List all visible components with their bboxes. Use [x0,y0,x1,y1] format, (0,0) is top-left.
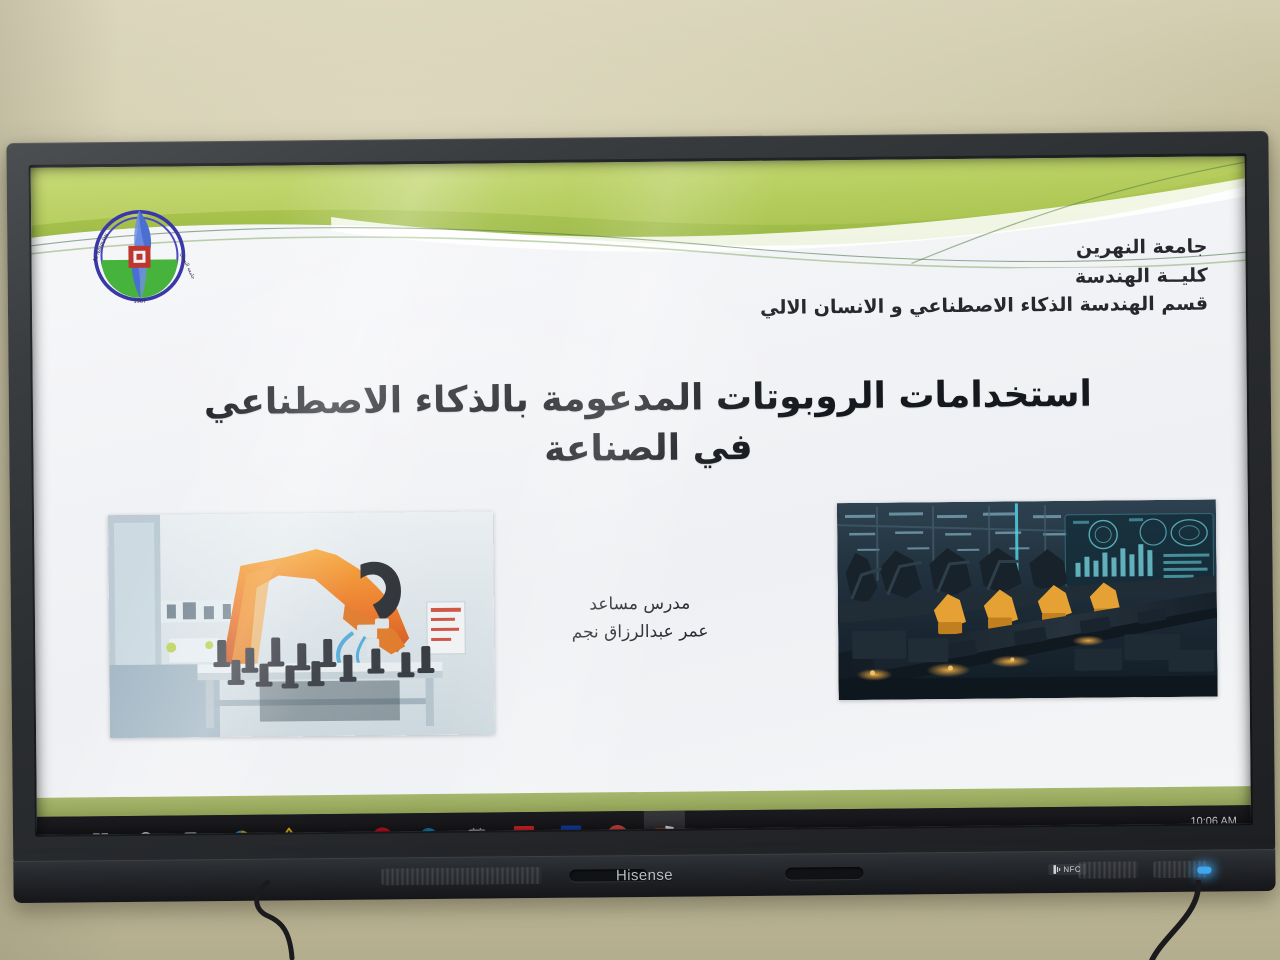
display-screen[interactable]: AL NAHRAIN جامعة النهرين 1987 جامعة النه… [31,156,1251,835]
nfc-icon [1053,865,1060,874]
app-yellow-button[interactable] [265,814,312,835]
search-button[interactable] [124,816,171,835]
al-nahrain-university-logo: AL NAHRAIN جامعة النهرين 1987 [84,201,195,307]
slide-institution-header: جامعة النهرين كليــة الهندسة قسم الهندسة… [607,233,1208,324]
speaker-grille-right [1078,861,1138,879]
ai-smart-factory-photo [837,499,1218,700]
cortana-button[interactable] [218,815,265,835]
industrial-robot-arm-photo [108,511,495,738]
presenter-role: مدرس مساعد [490,589,790,620]
room-scene: AL NAHRAIN جامعة النهرين 1987 جامعة النه… [0,0,1280,960]
slide-title: استخدامات الروبوتات المدعومة بالذكاء الا… [183,369,1114,479]
start-button[interactable] [77,816,124,835]
presenter-block: مدرس مساعد عمر عبدالرزاق نجم [490,589,791,648]
header-line-department: قسم الهندسة الذكاء الاصطناعي و الانسان ا… [608,290,1208,324]
presenter-name: عمر عبدالرزاق نجم [490,617,790,648]
nfc-label: NFC [1063,865,1081,874]
interactive-display: AL NAHRAIN جامعة النهرين 1987 جامعة النه… [6,131,1275,903]
svg-text:1987: 1987 [134,299,147,305]
port-slot-right[interactable] [785,867,863,880]
nfc-badge: NFC [1048,864,1086,875]
cables [0,880,1280,960]
powerpoint-slide[interactable]: AL NAHRAIN جامعة النهرين 1987 جامعة النه… [31,156,1251,798]
file-explorer-button[interactable] [312,814,359,835]
wall-highlight [0,0,1280,150]
power-led [1197,867,1211,874]
task-view-button[interactable] [171,815,218,835]
